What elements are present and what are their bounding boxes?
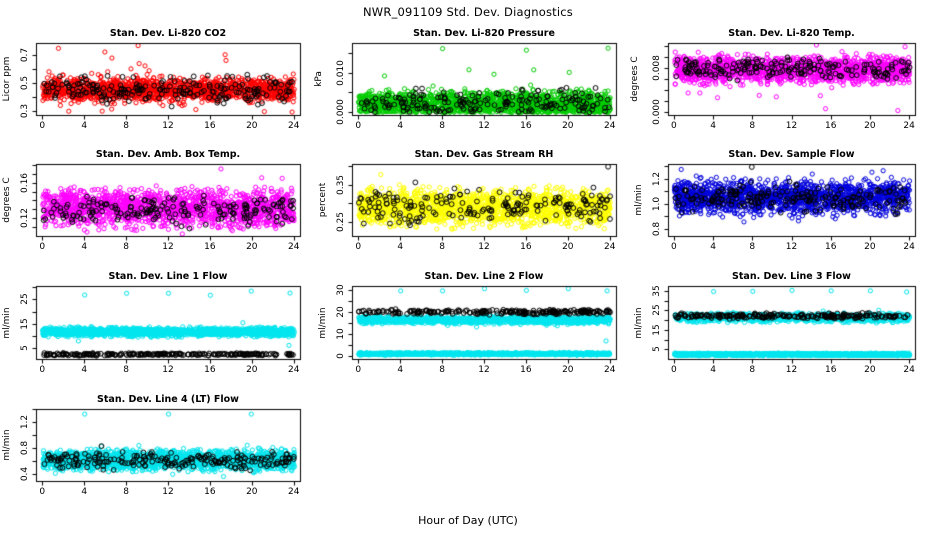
xtick-label-gas-stream-rh-8: 8 [428, 242, 456, 252]
xtick-label-li820-co2-4: 4 [70, 121, 98, 131]
xtick-label-sample-flow-0: 0 [660, 242, 688, 252]
ytick-label-li820-pressure-0: 0.000 [336, 99, 346, 125]
ytick-label-line2-flow-0: 0 [336, 353, 346, 359]
xtick-label-li820-co2-24: 24 [280, 121, 308, 131]
xtick-label-line3-flow-0: 0 [660, 365, 688, 375]
yaxis-label-li820-temp: degrees C [630, 56, 640, 101]
xtick-label-amb-box-temp-12: 12 [154, 242, 182, 252]
ytick-label-gas-stream-rh-0: 0.25 [336, 212, 346, 232]
ytick-label-li820-pressure-1: 0.010 [336, 60, 346, 86]
xtick-label-gas-stream-rh-24: 24 [596, 242, 624, 252]
xtick-label-line1-flow-16: 16 [196, 365, 224, 375]
xtick-label-li820-temp-4: 4 [699, 121, 727, 131]
ytick-label-line3-flow-3: 35 [652, 285, 662, 296]
xtick-label-li820-pressure-20: 20 [554, 121, 582, 131]
xtick-label-line3-flow-8: 8 [738, 365, 766, 375]
ytick-label-line3-flow-0: 5 [652, 346, 662, 352]
ytick-label-sample-flow-0: 0.8 [652, 221, 662, 235]
yaxis-label-line3-flow: ml/min [634, 307, 644, 338]
yaxis-label-sample-flow: ml/min [634, 184, 644, 215]
xtick-label-li820-co2-16: 16 [196, 121, 224, 131]
ytick-label-line2-flow-2: 20 [336, 306, 346, 317]
yaxis-label-line1-flow: ml/min [2, 307, 12, 338]
xtick-label-li820-pressure-12: 12 [470, 121, 498, 131]
xtick-label-line4-lt-flow-8: 8 [112, 487, 140, 497]
xtick-label-sample-flow-12: 12 [778, 242, 806, 252]
xtick-label-line1-flow-20: 20 [238, 365, 266, 375]
ytick-label-sample-flow-2: 1.2 [652, 172, 662, 186]
xtick-label-li820-co2-8: 8 [112, 121, 140, 131]
ytick-label-line1-flow-1: 15 [20, 318, 30, 329]
panel-title-line3-flow: Stan. Dev. Line 3 Flow [668, 271, 915, 282]
xtick-label-li820-pressure-8: 8 [428, 121, 456, 131]
ytick-label-line2-flow-3: 30 [336, 285, 346, 296]
xtick-label-amb-box-temp-4: 4 [70, 242, 98, 252]
xtick-label-line4-lt-flow-4: 4 [70, 487, 98, 497]
panel-title-line1-flow: Stan. Dev. Line 1 Flow [36, 271, 300, 282]
xtick-label-li820-co2-20: 20 [238, 121, 266, 131]
xtick-label-amb-box-temp-16: 16 [196, 242, 224, 252]
xtick-label-li820-co2-12: 12 [154, 121, 182, 131]
ytick-label-amb-box-temp-0: 0.12 [20, 208, 30, 228]
panel-title-line2-flow: Stan. Dev. Line 2 Flow [352, 271, 616, 282]
xtick-label-amb-box-temp-20: 20 [238, 242, 266, 252]
xtick-label-gas-stream-rh-4: 4 [386, 242, 414, 252]
xtick-label-line3-flow-24: 24 [895, 365, 923, 375]
xtick-label-sample-flow-4: 4 [699, 242, 727, 252]
panel-title-line4-lt-flow: Stan. Dev. Line 4 (LT) Flow [36, 394, 300, 405]
xtick-label-sample-flow-20: 20 [856, 242, 884, 252]
panel-title-gas-stream-rh: Stan. Dev. Gas Stream RH [352, 149, 616, 160]
xtick-label-gas-stream-rh-12: 12 [470, 242, 498, 252]
xtick-label-li820-temp-16: 16 [817, 121, 845, 131]
xtick-label-line2-flow-8: 8 [428, 365, 456, 375]
ytick-label-amb-box-temp-1: 0.16 [20, 173, 30, 193]
ytick-label-line4-lt-flow-0: 0.4 [20, 467, 30, 481]
xtick-label-sample-flow-16: 16 [817, 242, 845, 252]
ytick-label-line4-lt-flow-2: 1.2 [20, 415, 30, 429]
ytick-label-line1-flow-0: 5 [20, 345, 30, 351]
figure-root: NWR_091109 Std. Dev. DiagnosticsHour of … [0, 0, 936, 540]
xtick-label-gas-stream-rh-0: 0 [344, 242, 372, 252]
xtick-label-line3-flow-20: 20 [856, 365, 884, 375]
xtick-label-li820-temp-0: 0 [660, 121, 688, 131]
ytick-label-line1-flow-2: 25 [20, 294, 30, 305]
xtick-label-amb-box-temp-0: 0 [28, 242, 56, 252]
panel-title-li820-pressure: Stan. Dev. Li-820 Pressure [352, 28, 616, 39]
panel-title-li820-co2: Stan. Dev. Li-820 CO2 [36, 28, 300, 39]
ytick-label-li820-co2-1: 0.5 [20, 76, 30, 90]
xtick-label-li820-pressure-4: 4 [386, 121, 414, 131]
ytick-label-line3-flow-2: 25 [652, 305, 662, 316]
xtick-label-line2-flow-0: 0 [344, 365, 372, 375]
xtick-label-li820-pressure-24: 24 [596, 121, 624, 131]
xtick-label-line3-flow-12: 12 [778, 365, 806, 375]
diagnostics-figure-canvas [0, 0, 936, 540]
xtick-label-line1-flow-8: 8 [112, 365, 140, 375]
xtick-label-line4-lt-flow-0: 0 [28, 487, 56, 497]
yaxis-label-li820-pressure: kPa [314, 71, 324, 87]
ytick-label-li820-co2-0: 0.3 [20, 104, 30, 118]
panel-title-amb-box-temp: Stan. Dev. Amb. Box Temp. [36, 149, 300, 160]
xtick-label-line3-flow-16: 16 [817, 365, 845, 375]
xtick-label-line2-flow-24: 24 [596, 365, 624, 375]
xtick-label-line2-flow-16: 16 [512, 365, 540, 375]
xtick-label-line1-flow-24: 24 [280, 365, 308, 375]
xtick-label-line2-flow-12: 12 [470, 365, 498, 375]
xtick-label-line4-lt-flow-12: 12 [154, 487, 182, 497]
xtick-label-amb-box-temp-8: 8 [112, 242, 140, 252]
xtick-label-line4-lt-flow-24: 24 [280, 487, 308, 497]
xtick-label-line3-flow-4: 4 [699, 365, 727, 375]
xtick-label-amb-box-temp-24: 24 [280, 242, 308, 252]
ytick-label-gas-stream-rh-1: 0.35 [336, 174, 346, 194]
ytick-label-li820-temp-0: 0.000 [652, 99, 662, 125]
xtick-label-sample-flow-8: 8 [738, 242, 766, 252]
ytick-label-line2-flow-1: 10 [336, 328, 346, 339]
xtick-label-li820-co2-0: 0 [28, 121, 56, 131]
xtick-label-sample-flow-24: 24 [895, 242, 923, 252]
xtick-label-gas-stream-rh-16: 16 [512, 242, 540, 252]
xtick-label-li820-temp-12: 12 [778, 121, 806, 131]
yaxis-label-line2-flow: ml/min [318, 307, 328, 338]
yaxis-label-amb-box-temp: degrees C [2, 177, 12, 222]
ytick-label-line3-flow-1: 15 [652, 324, 662, 335]
yaxis-label-li820-co2: Licor ppm [2, 57, 12, 102]
ytick-label-line4-lt-flow-1: 0.8 [20, 441, 30, 455]
xtick-label-li820-pressure-16: 16 [512, 121, 540, 131]
xtick-label-line4-lt-flow-16: 16 [196, 487, 224, 497]
yaxis-label-line4-lt-flow: ml/min [2, 429, 12, 460]
xtick-label-gas-stream-rh-20: 20 [554, 242, 582, 252]
xtick-label-line1-flow-12: 12 [154, 365, 182, 375]
xaxis-title: Hour of Day (UTC) [0, 514, 936, 527]
figure-title: NWR_091109 Std. Dev. Diagnostics [0, 5, 936, 19]
ytick-label-sample-flow-1: 1.0 [652, 197, 662, 211]
xtick-label-line2-flow-20: 20 [554, 365, 582, 375]
xtick-label-line2-flow-4: 4 [386, 365, 414, 375]
xtick-label-li820-temp-8: 8 [738, 121, 766, 131]
panel-title-li820-temp: Stan. Dev. Li-820 Temp. [668, 28, 915, 39]
xtick-label-li820-temp-24: 24 [895, 121, 923, 131]
xtick-label-line4-lt-flow-20: 20 [238, 487, 266, 497]
panel-title-sample-flow: Stan. Dev. Sample Flow [668, 149, 915, 160]
xtick-label-line1-flow-0: 0 [28, 365, 56, 375]
xtick-label-li820-pressure-0: 0 [344, 121, 372, 131]
xtick-label-line1-flow-4: 4 [70, 365, 98, 375]
ytick-label-li820-temp-1: 0.008 [652, 55, 662, 81]
ytick-label-li820-co2-2: 0.7 [20, 48, 30, 62]
yaxis-label-gas-stream-rh: percent [318, 183, 328, 217]
xtick-label-li820-temp-20: 20 [856, 121, 884, 131]
